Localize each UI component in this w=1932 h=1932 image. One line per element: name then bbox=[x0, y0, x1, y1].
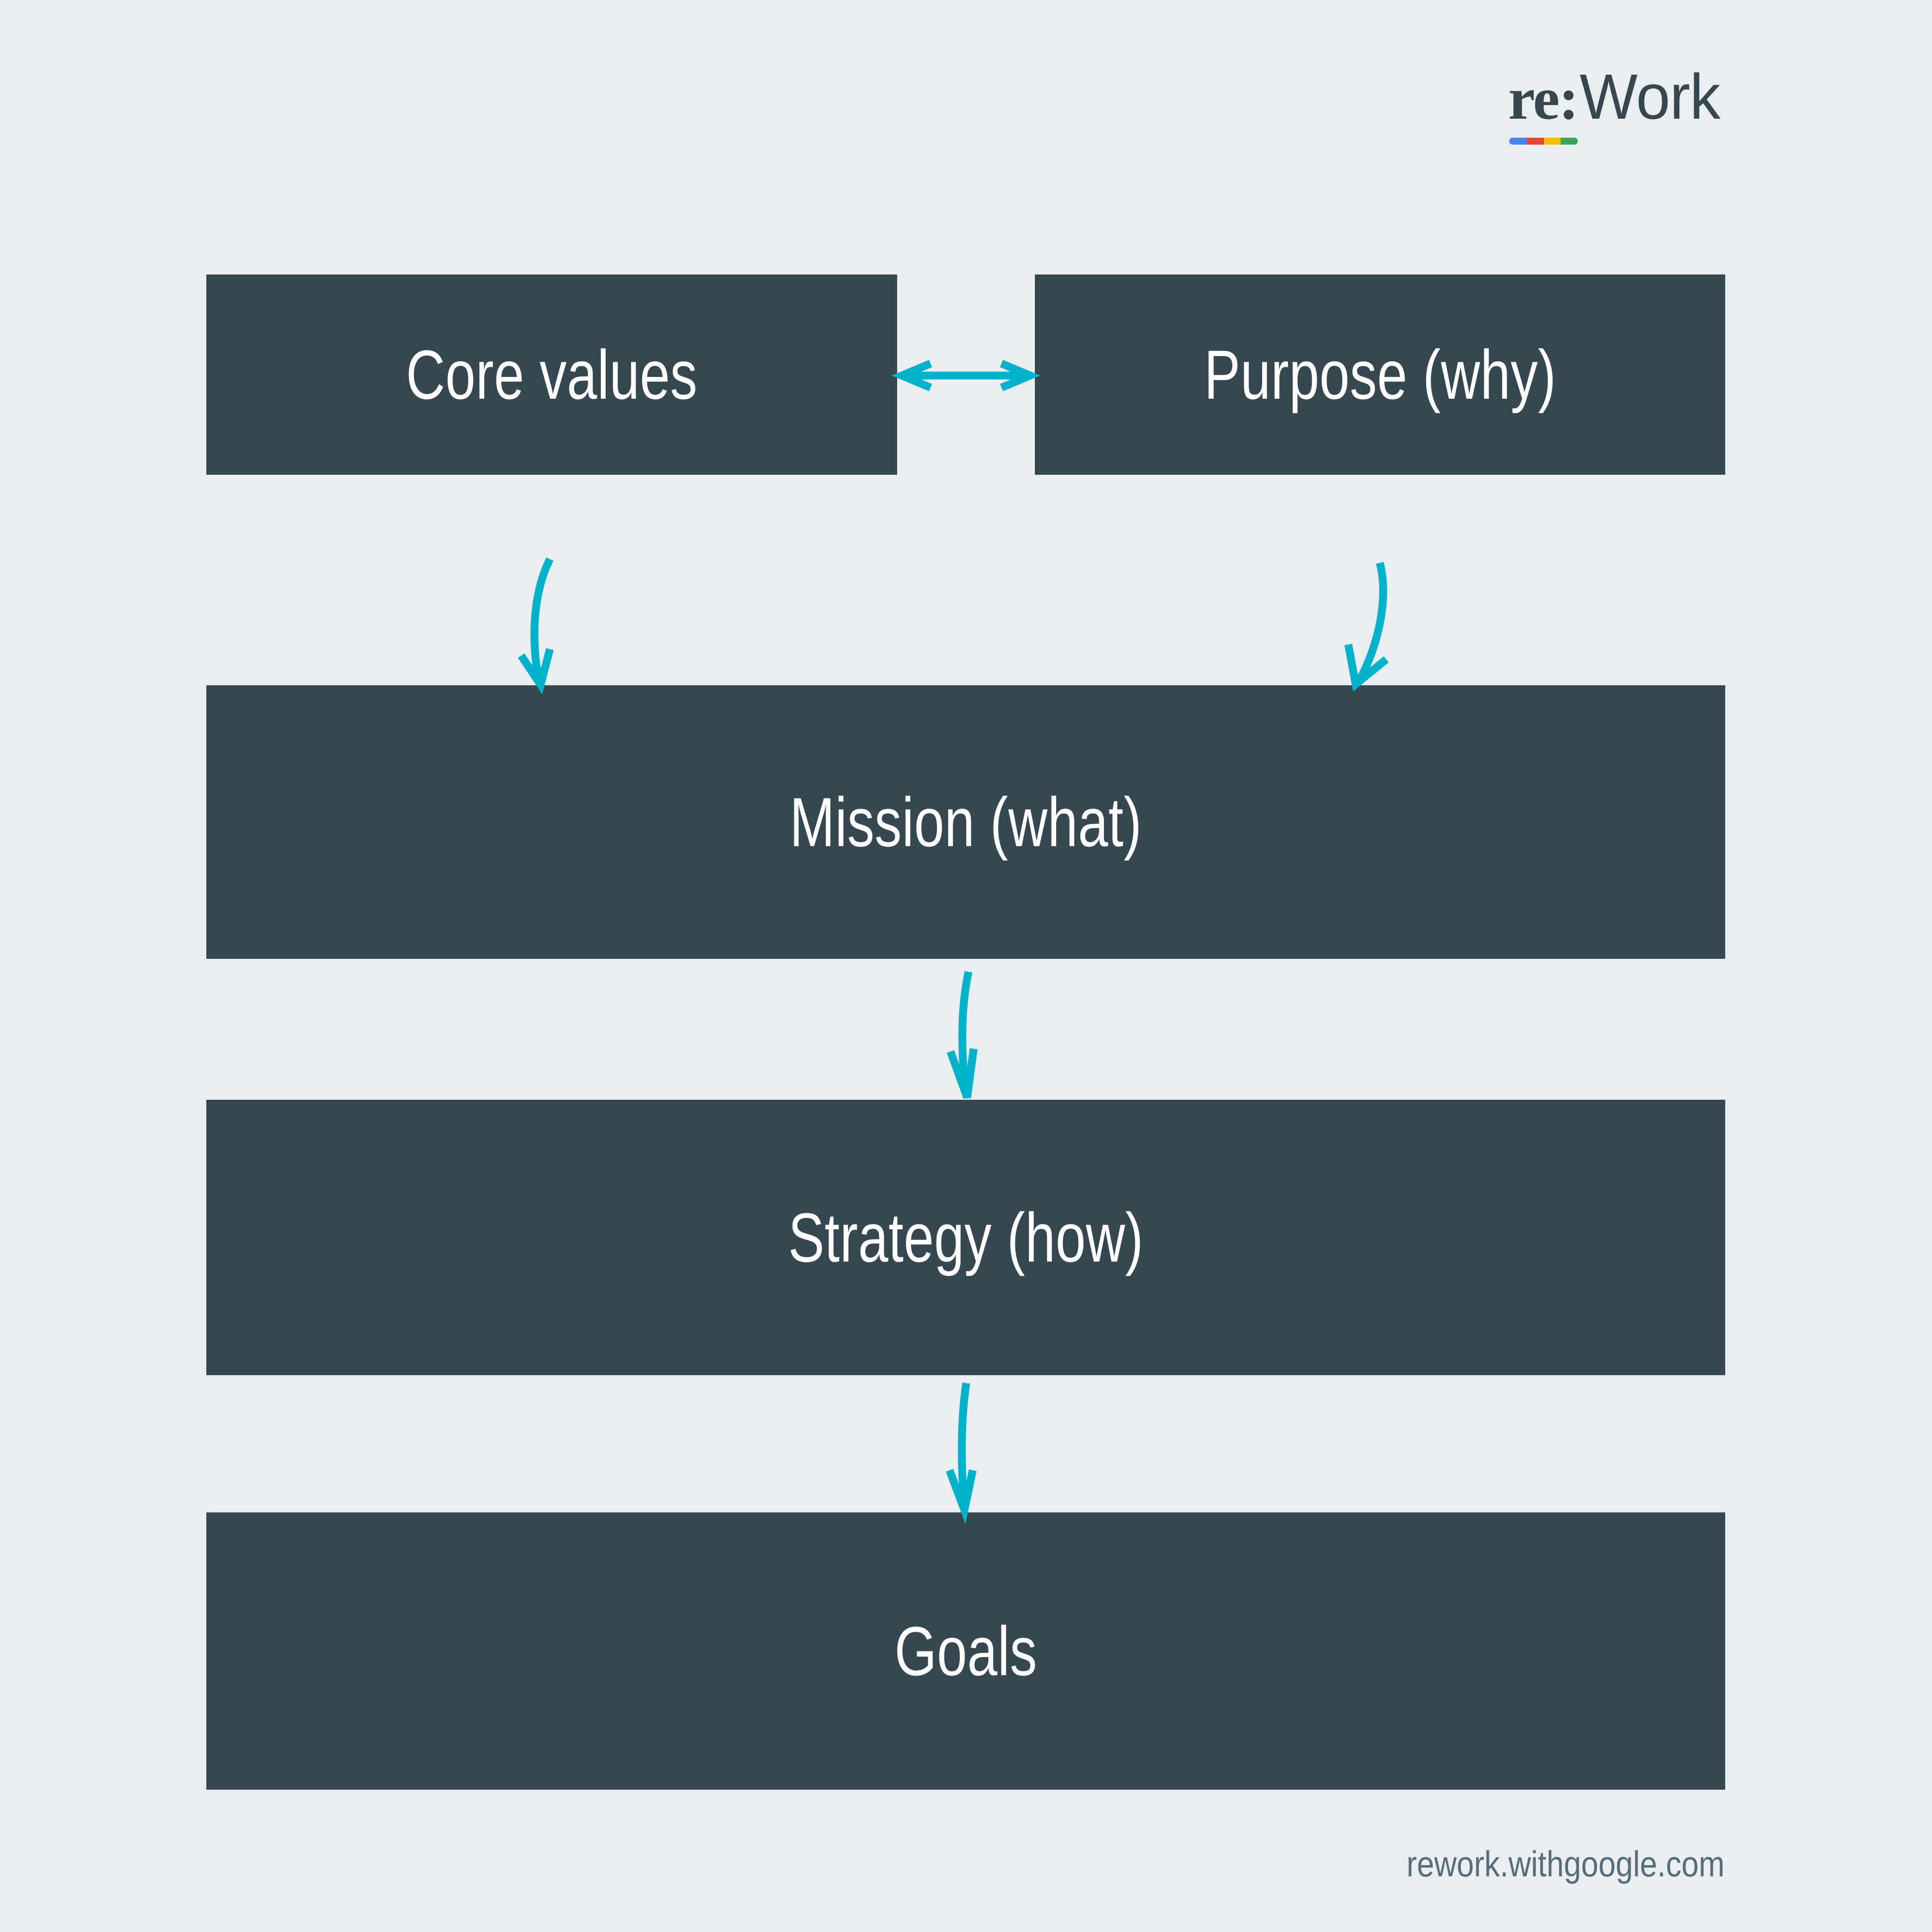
node-mission: Mission (what) bbox=[206, 685, 1725, 959]
node-label-mission: Mission (what) bbox=[790, 787, 1142, 857]
node-purpose: Purpose (why) bbox=[1035, 274, 1725, 475]
google-color-bar-icon bbox=[1509, 138, 1578, 145]
node-label-purpose: Purpose (why) bbox=[1204, 340, 1556, 409]
logo-re-wrap: re: bbox=[1508, 69, 1578, 129]
arrow-strategy-to-goals bbox=[932, 1379, 997, 1514]
bar-segment-blue bbox=[1509, 138, 1527, 145]
logo-work-text: Work bbox=[1580, 65, 1720, 129]
arrow-core-values-to-purpose-bidirectional bbox=[897, 343, 1035, 408]
node-label-core-values: Core values bbox=[406, 340, 698, 409]
bar-segment-green bbox=[1561, 138, 1578, 145]
footer-url: rework.withgoogle.com bbox=[1407, 1843, 1725, 1885]
rework-logo: re: Work bbox=[1508, 65, 1726, 129]
diagram-canvas: re: Work Core values Purpose (why) Missi… bbox=[0, 0, 1932, 1932]
bar-segment-yellow bbox=[1544, 138, 1561, 145]
arrow-mission-to-strategy bbox=[932, 969, 997, 1101]
node-core-values: Core values bbox=[206, 274, 897, 475]
arrow-purpose-to-mission bbox=[1340, 556, 1428, 689]
bar-segment-red bbox=[1527, 138, 1544, 145]
node-strategy: Strategy (how) bbox=[206, 1100, 1725, 1375]
node-label-goals: Goals bbox=[894, 1616, 1037, 1686]
node-label-strategy: Strategy (how) bbox=[788, 1203, 1143, 1272]
logo-re-text: re: bbox=[1508, 65, 1578, 132]
node-goals: Goals bbox=[206, 1512, 1725, 1790]
arrow-core-values-to-mission bbox=[510, 556, 593, 689]
